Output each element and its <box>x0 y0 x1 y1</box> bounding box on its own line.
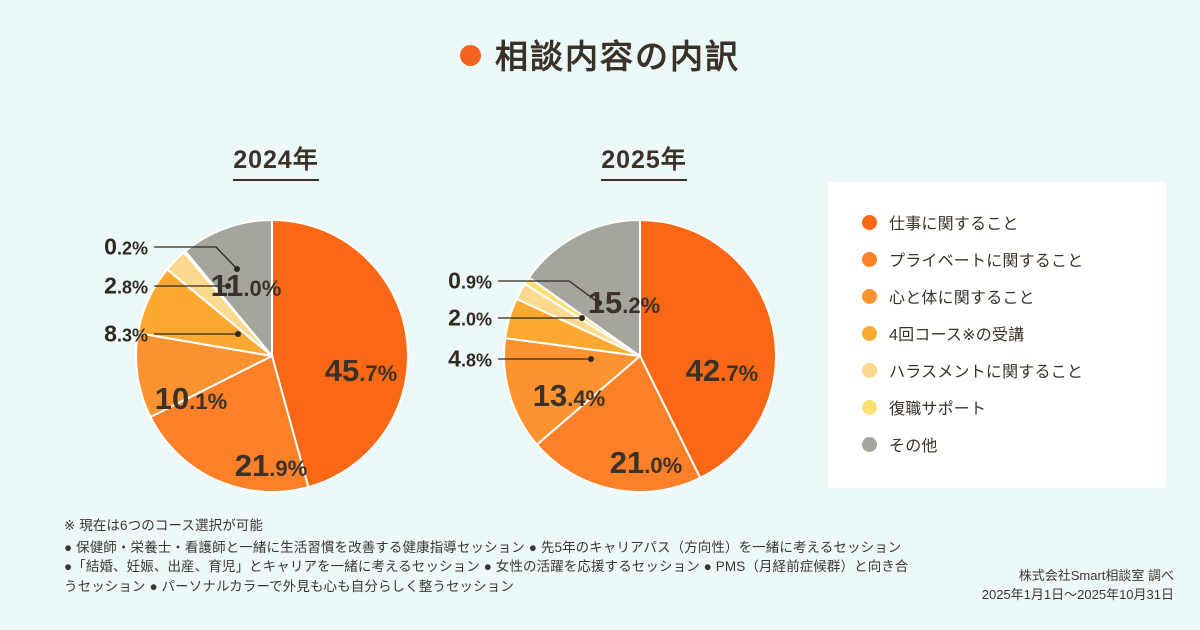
legend-list: 仕事に関することプライベートに関すること心と体に関すること4回コース※の受講ハラ… <box>862 208 1083 458</box>
source-line-2: 2025年1月1日〜2025年10月31日 <box>982 585 1174 604</box>
footnote-block: ※ 現在は6つのコース選択が可能 ● 保健師・栄養士・看護師と一緒に生活習慣を改… <box>64 516 964 596</box>
legend-item-6[interactable]: その他 <box>862 430 1083 458</box>
legend-item-3[interactable]: 4回コース※の受講 <box>862 319 1083 347</box>
legend-swatch-icon-4 <box>862 363 877 378</box>
slice-value-label-other-2025: 15.2% <box>588 285 660 321</box>
legend-swatch-icon-2 <box>862 289 877 304</box>
chart-year-label-2024: 2024年 <box>233 140 319 181</box>
callout-value-label-return-2025: 0.9% <box>448 268 492 295</box>
callout-value-label-course-2024: 8.3% <box>104 321 148 348</box>
footnote-line-3: ●「結婚、妊娠、出産、育児」とキャリアを一緒に考えるセッション ● 女性の活躍を… <box>64 557 964 577</box>
legend-label-4: ハラスメントに関すること <box>889 358 1083 382</box>
chart-panel-2024: 2024年 45.7% 21.9% <box>66 140 486 521</box>
callout-value-label-harassment-2025: 2.0% <box>448 305 492 332</box>
title-text: 相談内容の内訳 <box>495 30 740 78</box>
slice-value-label-other-2024: 11.0% <box>211 268 282 304</box>
legend-label-6: その他 <box>889 432 938 456</box>
title-bullet-icon <box>460 45 481 66</box>
legend-panel: 仕事に関することプライベートに関すること心と体に関すること4回コース※の受講ハラ… <box>828 182 1166 488</box>
legend-label-3: 4回コース※の受講 <box>889 321 1024 345</box>
legend-item-0[interactable]: 仕事に関すること <box>862 208 1083 236</box>
chart-year-heading-2024: 2024年 <box>66 140 486 181</box>
infographic-canvas: 相談内容の内訳 2024年 45.7% <box>0 0 1200 630</box>
source-line-1: 株式会社Smart相談室 調べ <box>982 566 1174 585</box>
chart-panel-2025: 2025年 42.7% 21.0% <box>434 140 854 521</box>
legend-swatch-icon-6 <box>862 437 877 452</box>
slice-value-label-mind-2025: 13.4% <box>533 378 605 414</box>
footnote-line-1: ※ 現在は6つのコース選択が可能 <box>64 516 964 536</box>
slice-value-label-private-2024: 21.9% <box>235 448 307 484</box>
legend-item-1[interactable]: プライベートに関すること <box>862 245 1083 273</box>
callout-value-label-course-2025: 4.8% <box>448 346 492 373</box>
slice-value-label-mind-2024: 10.1% <box>155 381 227 417</box>
page-title: 相談内容の内訳 <box>0 30 1200 78</box>
pie-wrap-2024: 45.7% 21.9% 10.1% 11.0% 0.2% 2.8% 8.3% <box>66 191 486 521</box>
legend-swatch-icon-1 <box>862 252 877 267</box>
legend-label-2: 心と体に関すること <box>889 284 1035 308</box>
chart-year-heading-2025: 2025年 <box>434 140 854 181</box>
legend-label-1: プライベートに関すること <box>889 247 1083 271</box>
legend-swatch-icon-0 <box>862 215 877 230</box>
callout-value-label-harassment-2024: 2.8% <box>104 273 148 300</box>
slice-value-label-work-2024: 45.7% <box>325 353 397 389</box>
legend-label-5: 復職サポート <box>889 395 986 419</box>
leader-dot-2-5 <box>588 356 594 362</box>
pie-wrap-2025: 42.7% 21.0% 13.4% 15.2% 0.9% 2.0% 4.8% <box>434 191 854 521</box>
slice-value-label-work-2025: 42.7% <box>686 353 758 389</box>
legend-swatch-icon-3 <box>862 326 877 341</box>
callout-value-label-return-2024: 0.2% <box>104 234 148 261</box>
leader-dot-2-2 <box>235 331 241 337</box>
legend-swatch-icon-5 <box>862 400 877 415</box>
legend-item-2[interactable]: 心と体に関すること <box>862 282 1083 310</box>
leader-dot-1-5 <box>579 315 585 321</box>
source-credit: 株式会社Smart相談室 調べ 2025年1月1日〜2025年10月31日 <box>982 566 1174 604</box>
footnote-line-4: うセッション ● パーソナルカラーで外見も心も自分らしく整うセッション <box>64 577 964 597</box>
slice-value-label-private-2025: 21.0% <box>610 445 682 481</box>
footnote-line-2: ● 保健師・栄養士・看護師と一緒に生活習慣を改善する健康指導セッション ● 先5… <box>64 538 964 558</box>
legend-label-0: 仕事に関すること <box>889 210 1019 234</box>
legend-item-5[interactable]: 復職サポート <box>862 393 1083 421</box>
legend-item-4[interactable]: ハラスメントに関すること <box>862 356 1083 384</box>
chart-year-label-2025: 2025年 <box>601 140 687 181</box>
